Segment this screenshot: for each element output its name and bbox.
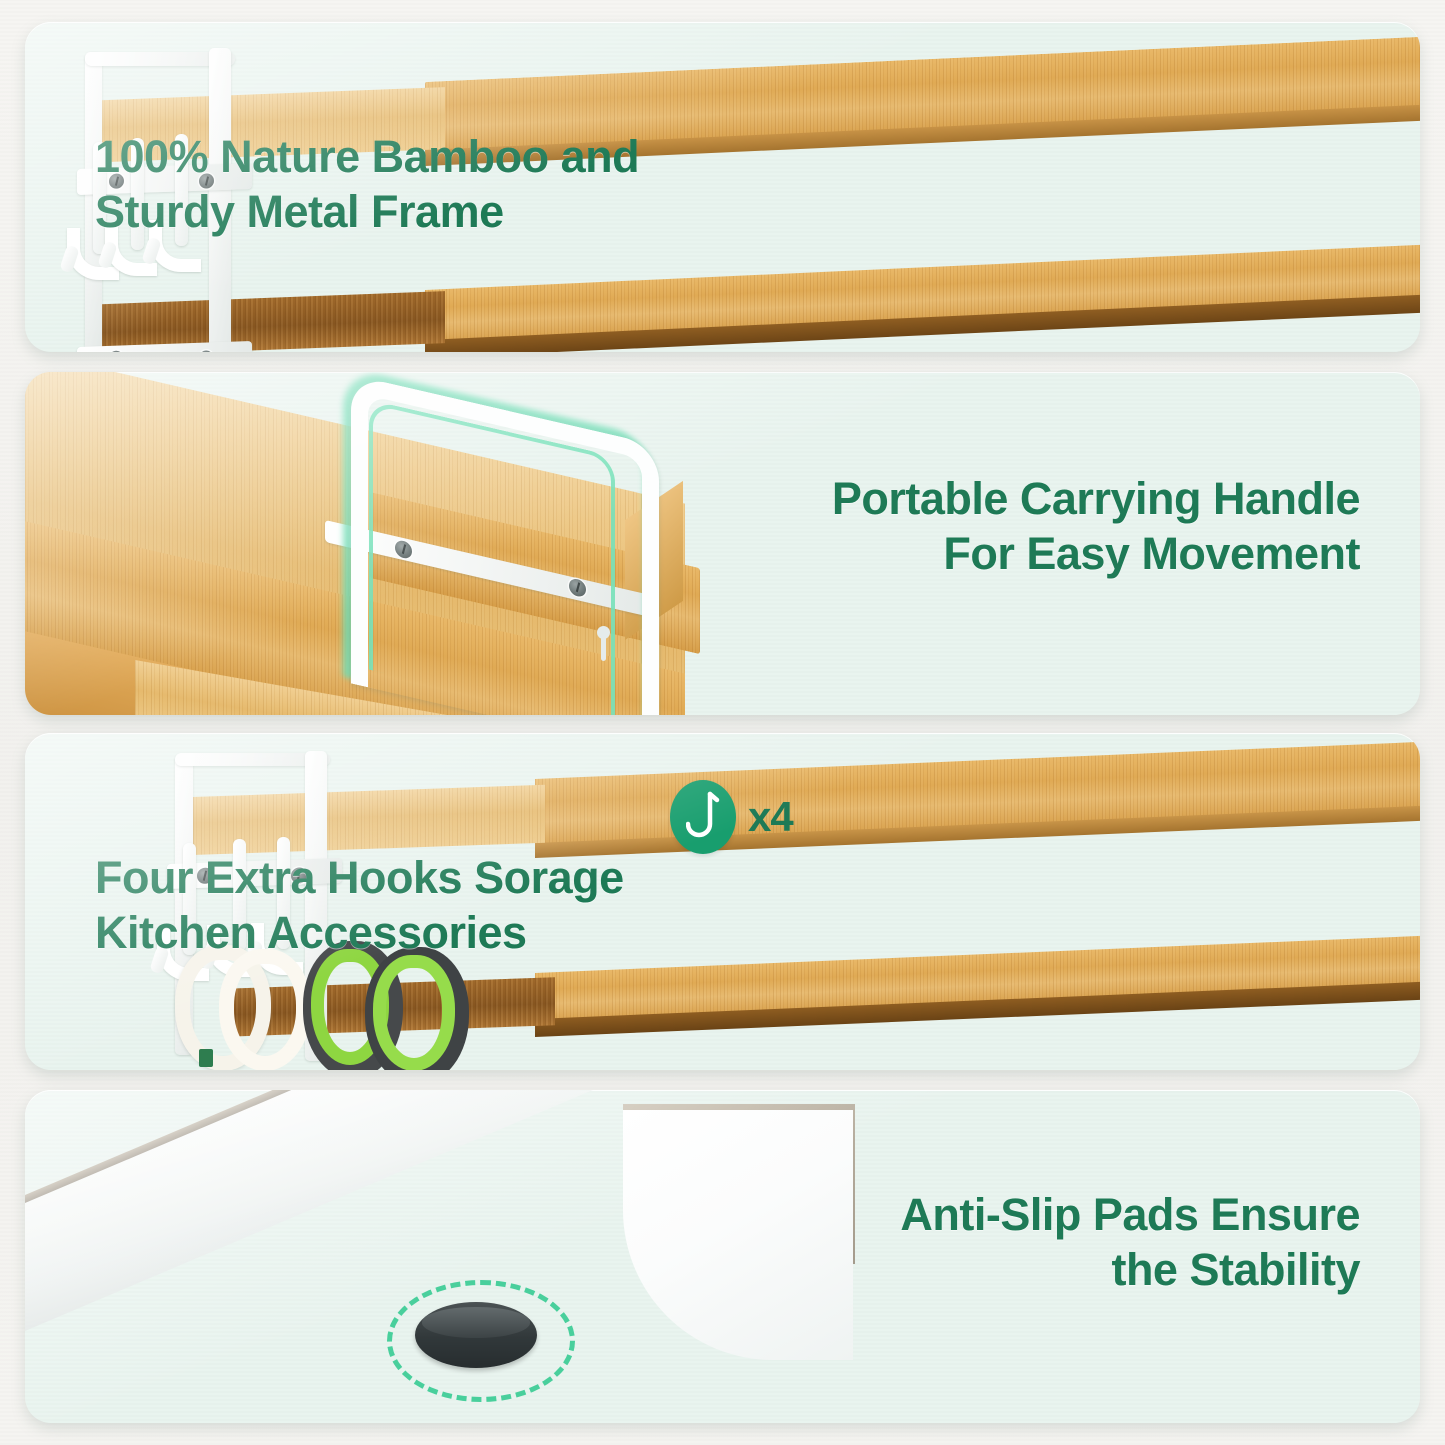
highlight-ellipse [387,1280,575,1402]
panel-4-heading: Anti-Slip Pads Ensure the Stability [740,1188,1360,1298]
screw-icon [109,350,123,352]
panel-1-heading-line2: Sturdy Metal Frame [95,185,735,240]
panel-2-heading-line1: Portable Carrying Handle [720,472,1360,527]
panel-1-heading: 100% Nature Bamboo and Sturdy Metal Fram… [95,130,735,240]
handle-inner-outline [369,400,615,715]
keyhole-slot-icon [597,626,610,662]
panel-3-heading-line1: Four Extra Hooks Sorage [95,851,755,906]
panel-4-heading-line2: the Stability [740,1243,1360,1298]
feature-panel-carrying-handle: Portable Carrying Handle For Easy Moveme… [25,372,1420,715]
hook-count-label: x4 [748,793,793,841]
screw-icon [199,350,213,352]
feature-panel-anti-slip-pads: Anti-Slip Pads Ensure the Stability [25,1090,1420,1423]
panel-2-heading-line2: For Easy Movement [720,527,1360,582]
hook-count-badge: x4 [670,780,793,854]
feature-panel-bamboo-metal-frame: 100% Nature Bamboo and Sturdy Metal Fram… [25,22,1420,352]
infographic-canvas: 100% Nature Bamboo and Sturdy Metal Fram… [0,0,1445,1445]
panel-3-heading-line2: Kitchen Accessories [95,906,755,961]
bamboo-slat-lower [85,291,445,352]
panel-3-heading: Four Extra Hooks Sorage Kitchen Accessor… [95,851,755,961]
carrying-handle-highlight [325,394,665,715]
hook-icon [670,780,736,854]
feature-panel-extra-hooks: x4 Four Extra Hooks Sorage Kitchen Acces… [25,733,1420,1070]
panel-2-heading: Portable Carrying Handle For Easy Moveme… [720,472,1360,582]
white-scissors [175,945,295,1070]
panel-1-heading-line1: 100% Nature Bamboo and [95,130,735,185]
panel-4-heading-line1: Anti-Slip Pads Ensure [740,1188,1360,1243]
